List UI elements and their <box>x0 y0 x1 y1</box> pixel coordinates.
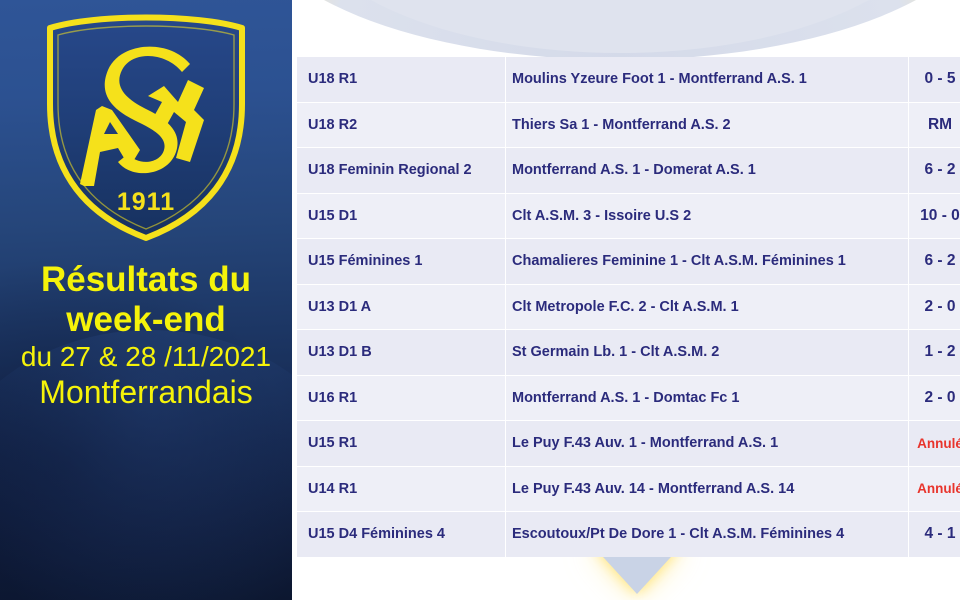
cell-score-cancelled: Annulé <box>909 421 960 467</box>
cell-match: Chamalieres Feminine 1 - Clt A.S.M. Fémi… <box>506 239 909 285</box>
cell-match: Moulins Yzeure Foot 1 - Montferrand A.S.… <box>506 57 909 102</box>
results-table-body: U18 R1Moulins Yzeure Foot 1 - Montferran… <box>297 57 960 557</box>
table-row: U15 D4 Féminines 4Escoutoux/Pt De Dore 1… <box>297 512 960 557</box>
cell-match: Montferrand A.S. 1 - Domerat A.S. 1 <box>506 148 909 194</box>
headline-line-3: du 27 & 28 /11/2021 <box>0 343 292 376</box>
cell-match: Le Puy F.43 Auv. 1 - Montferrand A.S. 1 <box>506 421 909 467</box>
results-poster: 1911 Résultats du week-end du 27 & 28 /1… <box>0 0 960 600</box>
table-row: U15 D1Clt A.S.M. 3 - Issoire U.S 210 - 0 <box>297 193 960 239</box>
table-row: U15 Féminines 1Chamalieres Feminine 1 - … <box>297 239 960 285</box>
cell-score: 2 - 0 <box>909 375 960 421</box>
table-row: U13 D1 AClt Metropole F.C. 2 - Clt A.S.M… <box>297 284 960 330</box>
cell-score: 6 - 2 <box>909 239 960 285</box>
table-row: U18 R1Moulins Yzeure Foot 1 - Montferran… <box>297 57 960 102</box>
table-row: U18 Feminin Regional 2Montferrand A.S. 1… <box>297 148 960 194</box>
cell-score: 6 - 2 <box>909 148 960 194</box>
cell-match: Thiers Sa 1 - Montferrand A.S. 2 <box>506 102 909 148</box>
top-arc-fill <box>300 0 940 53</box>
cell-category: U15 D4 Féminines 4 <box>297 512 506 557</box>
cell-category: U14 R1 <box>297 466 506 512</box>
cell-score: 2 - 0 <box>909 284 960 330</box>
asm-crest-logo: 1911 <box>36 6 256 242</box>
top-glow-arc <box>250 0 960 60</box>
poster-headline: Résultats du week-end du 27 & 28 /11/202… <box>0 262 292 408</box>
headline-line-1: Résultats du <box>0 262 292 302</box>
cell-match: Clt Metropole F.C. 2 - Clt A.S.M. 1 <box>506 284 909 330</box>
cell-match: Le Puy F.43 Auv. 14 - Montferrand A.S. 1… <box>506 466 909 512</box>
cell-category: U18 R1 <box>297 57 506 102</box>
cell-score: 4 - 1 <box>909 512 960 557</box>
results-table: U18 R1Moulins Yzeure Foot 1 - Montferran… <box>297 57 960 557</box>
cell-match: Escoutoux/Pt De Dore 1 - Clt A.S.M. Fémi… <box>506 512 909 557</box>
table-row: U14 R1Le Puy F.43 Auv. 14 - Montferrand … <box>297 466 960 512</box>
cell-score: RM <box>909 102 960 148</box>
cell-category: U15 Féminines 1 <box>297 239 506 285</box>
cell-match: St Germain Lb. 1 - Clt A.S.M. 2 <box>506 330 909 376</box>
table-row: U16 R1Montferrand A.S. 1 - Domtac Fc 12 … <box>297 375 960 421</box>
cell-score: 0 - 5 <box>909 57 960 102</box>
cell-category: U15 D1 <box>297 193 506 239</box>
cell-score: 10 - 0 <box>909 193 960 239</box>
cell-category: U16 R1 <box>297 375 506 421</box>
cell-match: Montferrand A.S. 1 - Domtac Fc 1 <box>506 375 909 421</box>
cell-category: U13 D1 A <box>297 284 506 330</box>
cell-category: U13 D1 B <box>297 330 506 376</box>
table-row: U15 R1Le Puy F.43 Auv. 1 - Montferrand A… <box>297 421 960 467</box>
cell-score-cancelled: Annulé <box>909 466 960 512</box>
sidebar-panel: 1911 Résultats du week-end du 27 & 28 /1… <box>0 0 292 600</box>
cell-category: U18 R2 <box>297 102 506 148</box>
headline-line-4: Montferrandais <box>0 376 292 408</box>
table-row: U13 D1 BSt Germain Lb. 1 - Clt A.S.M. 21… <box>297 330 960 376</box>
cell-category: U18 Feminin Regional 2 <box>297 148 506 194</box>
cell-category: U15 R1 <box>297 421 506 467</box>
svg-text:1911: 1911 <box>117 188 175 216</box>
cell-match: Clt A.S.M. 3 - Issoire U.S 2 <box>506 193 909 239</box>
table-row: U18 R2Thiers Sa 1 - Montferrand A.S. 2RM <box>297 102 960 148</box>
cell-score: 1 - 2 <box>909 330 960 376</box>
headline-line-2: week-end <box>0 302 292 343</box>
